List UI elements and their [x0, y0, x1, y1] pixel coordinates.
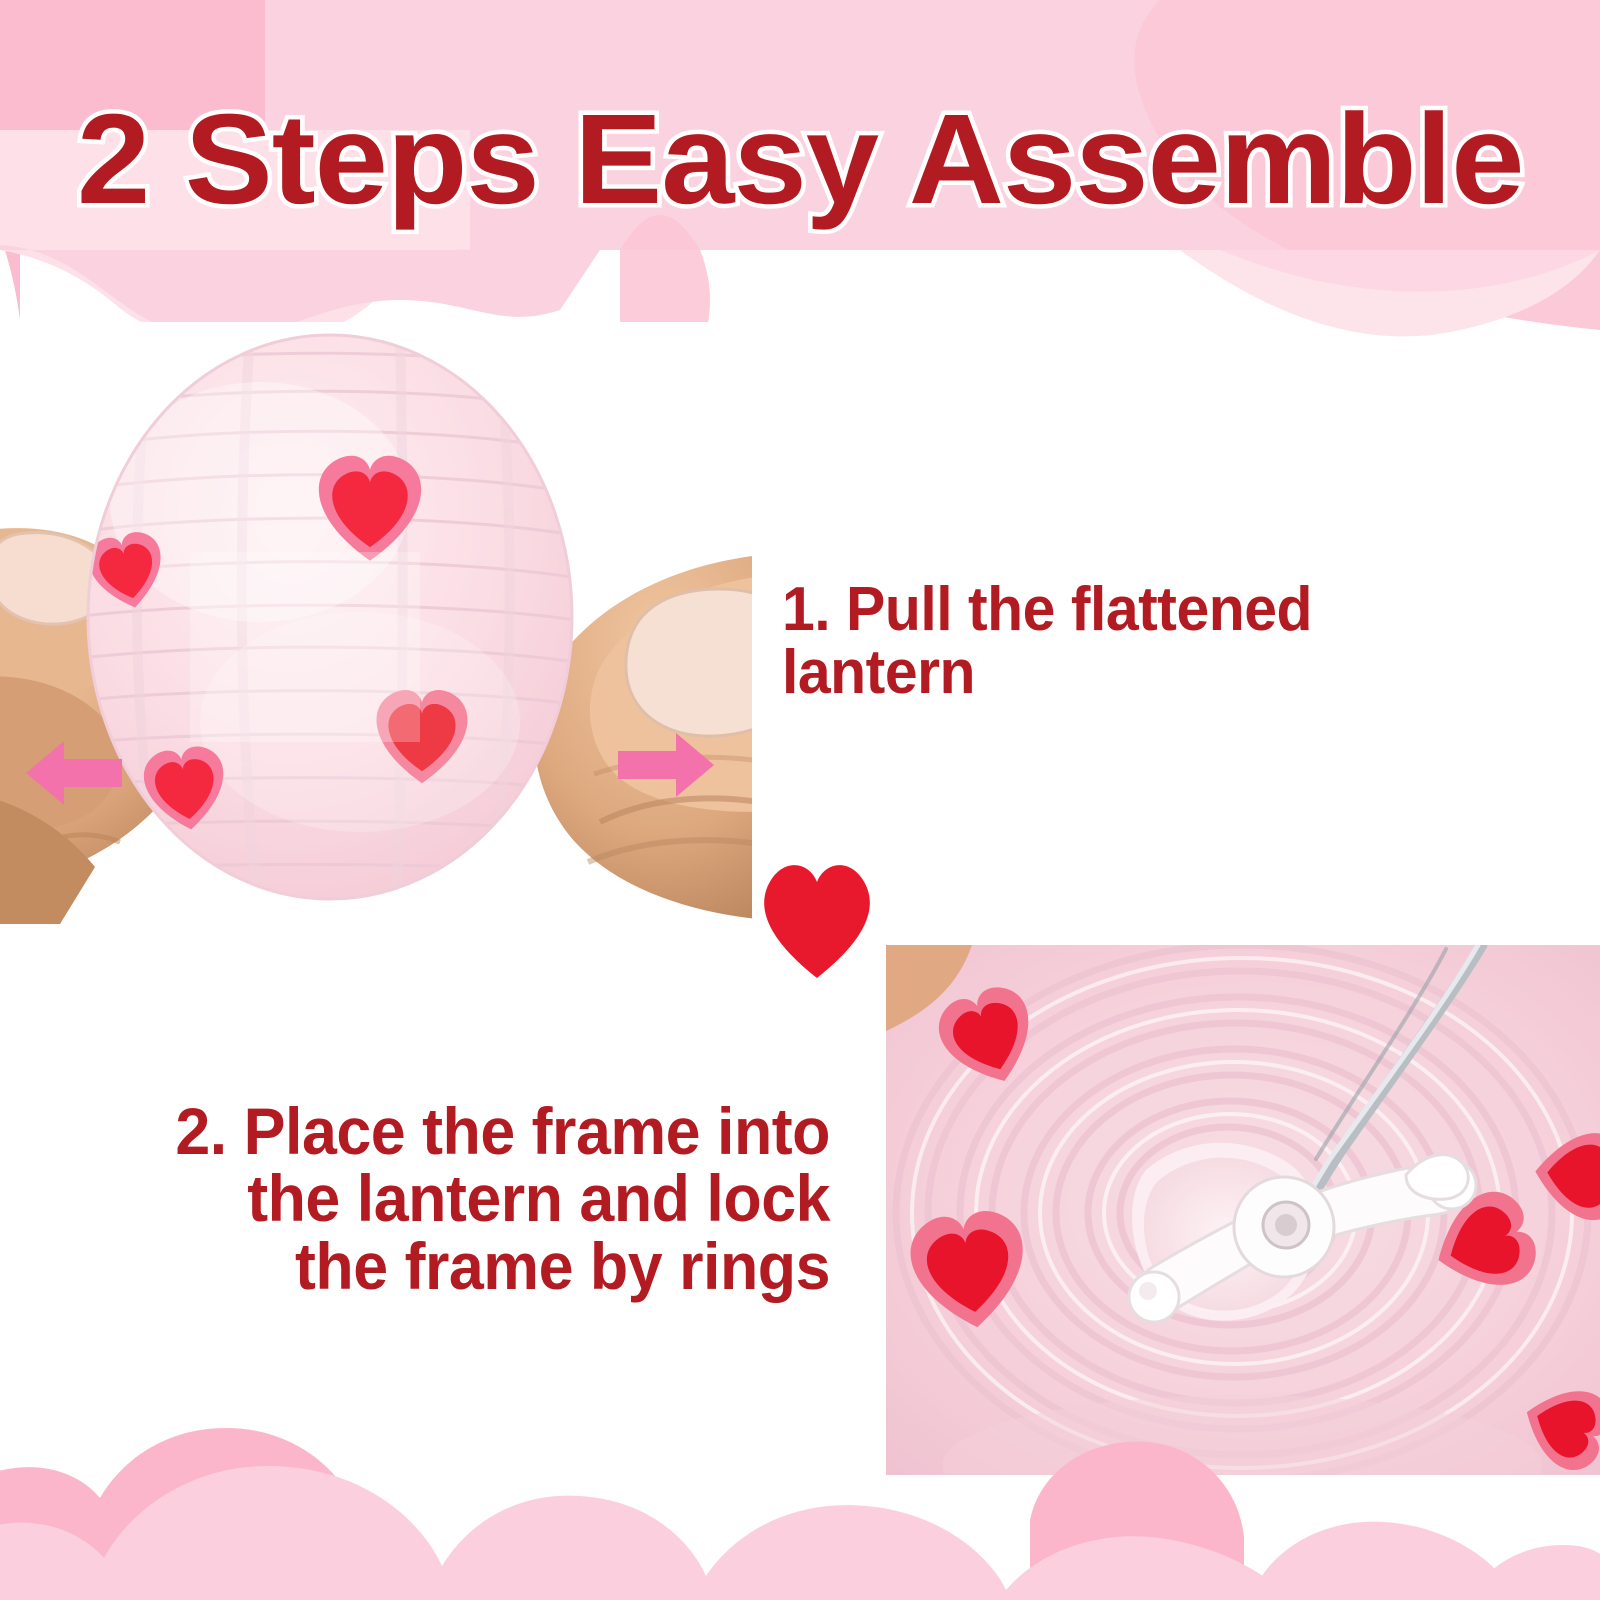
- step-2-line-1: 2. Place the frame into: [70, 1098, 830, 1165]
- photo-insert-frame-illustration: [886, 945, 1600, 1475]
- photo-pull-lantern-illustration: [0, 322, 752, 924]
- step-2-instruction: 2. Place the frame into the lantern and …: [70, 1098, 830, 1300]
- step-1-line-2: lantern: [782, 641, 1466, 704]
- headline-container: 2 Steps Easy Assemble: [0, 96, 1600, 224]
- infographic-page: 2 Steps Easy Assemble: [0, 0, 1600, 1600]
- arrow-right-icon: [618, 729, 714, 801]
- step-1-line-1: 1. Pull the flattened: [782, 578, 1466, 641]
- arrow-left-icon: [26, 737, 122, 809]
- step-2-line-3: the frame by rings: [70, 1233, 830, 1300]
- heart-icon: [757, 862, 877, 980]
- page-title: 2 Steps Easy Assemble: [77, 96, 1524, 224]
- photo-pull-lantern: [0, 322, 752, 924]
- step-2-line-2: the lantern and lock: [70, 1165, 830, 1232]
- photo-insert-frame: [886, 945, 1600, 1475]
- step-1-instruction: 1. Pull the flattened lantern: [782, 578, 1466, 704]
